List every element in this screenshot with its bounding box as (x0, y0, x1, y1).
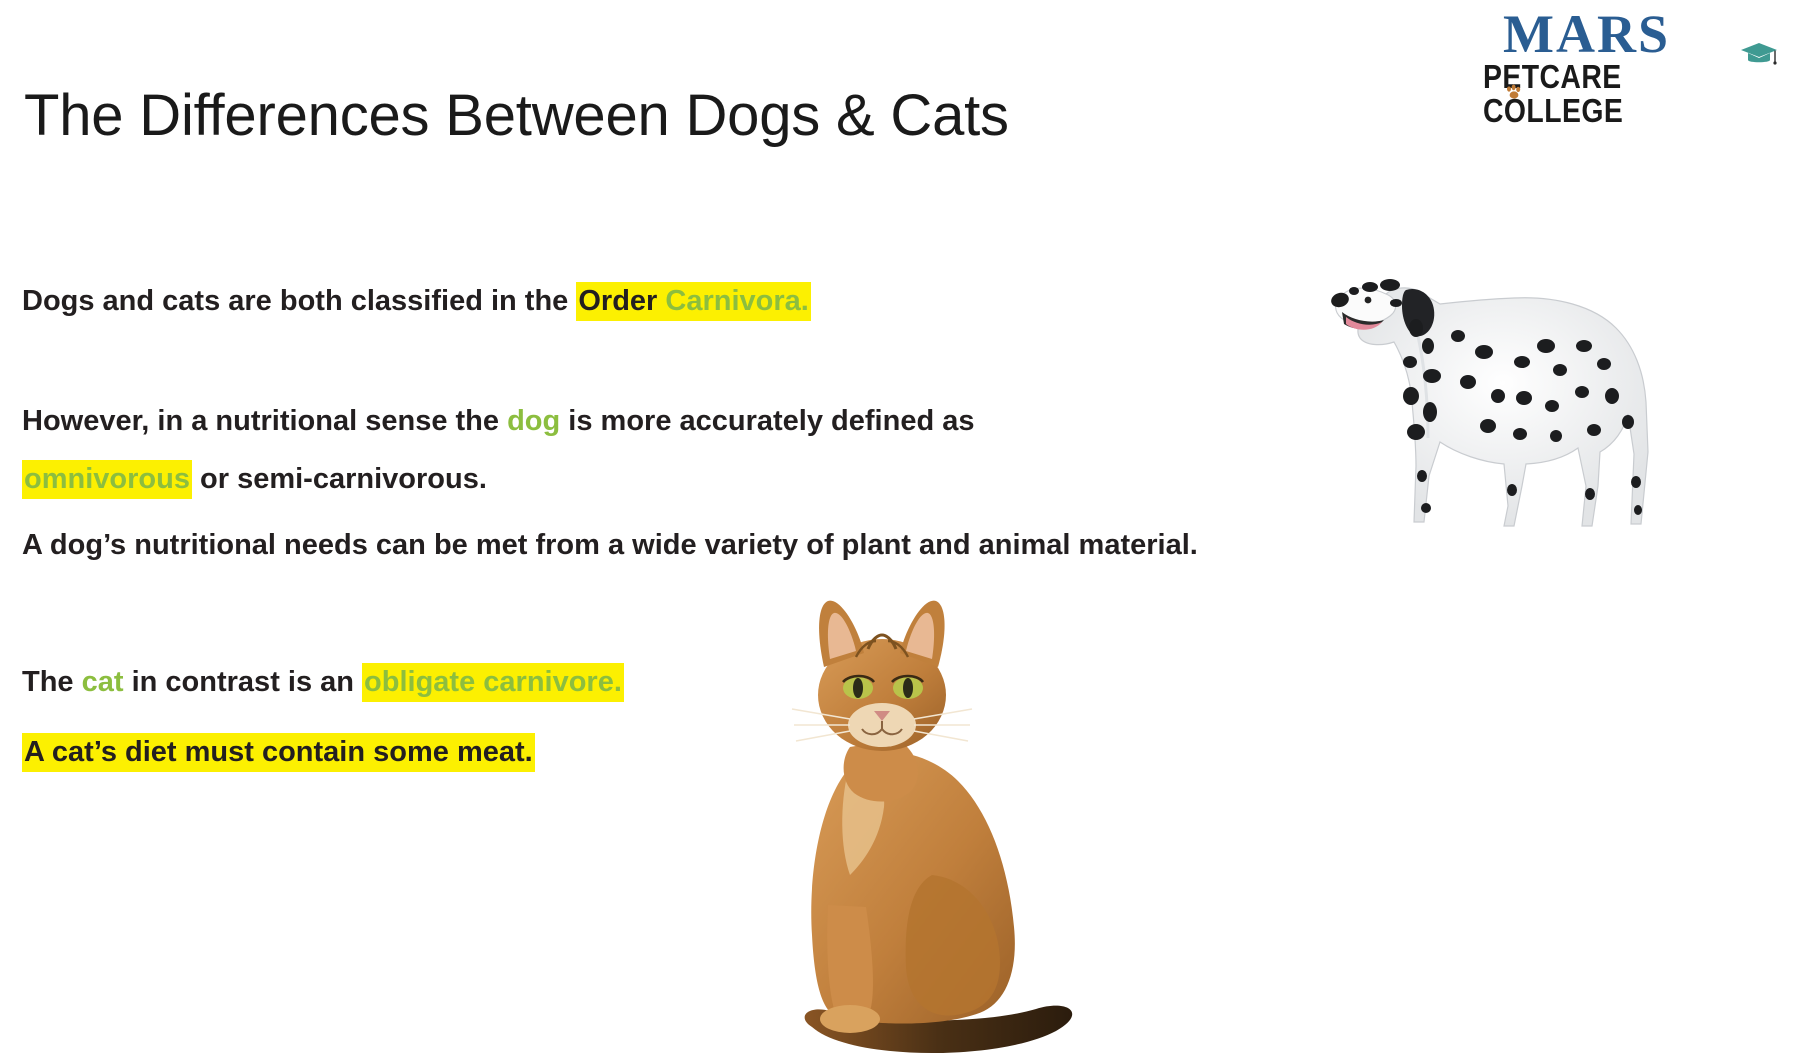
logo-brand-text: MARS (1483, 8, 1783, 60)
graduation-cap-icon (1739, 41, 1779, 67)
p1-highlight: Order Carnivora. (576, 282, 810, 321)
p5-lead-text: The (22, 666, 82, 698)
paragraph-cat-carnivore: The cat in contrast is an obligate carni… (22, 665, 624, 699)
slide-canvas: MARS PETCARE COLLEGE The Differences Bet… (0, 0, 1819, 1064)
paragraph-classification: Dogs and cats are both classified in the… (22, 284, 811, 318)
p5-cat-term: cat (82, 666, 124, 698)
mars-petcare-college-logo: MARS PETCARE COLLEGE (1483, 8, 1783, 96)
p1-lead-text: Dogs and cats are both classified in the (22, 285, 576, 317)
paragraph-dog-nutrition-line2: omnivorous or semi-carnivorous. (22, 462, 487, 496)
p1-order-term: Order (578, 285, 665, 317)
p5-mid-text: in contrast is an (124, 666, 363, 698)
paragraph-cat-diet: A cat’s diet must contain some meat. (22, 735, 535, 769)
p2-dog-term: dog (507, 405, 560, 437)
p3-tail-text: or semi-carnivorous. (192, 463, 487, 495)
ginger-cat-photo (700, 575, 1200, 1064)
p6-highlight-text: A cat’s diet must contain some meat. (22, 733, 535, 772)
p5-obligate-carnivore-term: obligate carnivore. (362, 663, 624, 702)
dalmatian-dog-photo (1298, 186, 1818, 566)
p1-carnivora-term: Carnivora. (665, 285, 808, 317)
p3-omnivorous-term: omnivorous (22, 460, 192, 499)
paragraph-dog-diet: A dog’s nutritional needs can be met fro… (22, 528, 1198, 562)
page-title: The Differences Between Dogs & Cats (24, 82, 1009, 149)
p2-tail-text: is more accurately defined as (560, 405, 974, 437)
paragraph-dog-nutrition-line1: However, in a nutritional sense the dog … (22, 404, 974, 438)
paw-print-icon (1505, 84, 1523, 100)
p2-lead-text: However, in a nutritional sense the (22, 405, 507, 437)
